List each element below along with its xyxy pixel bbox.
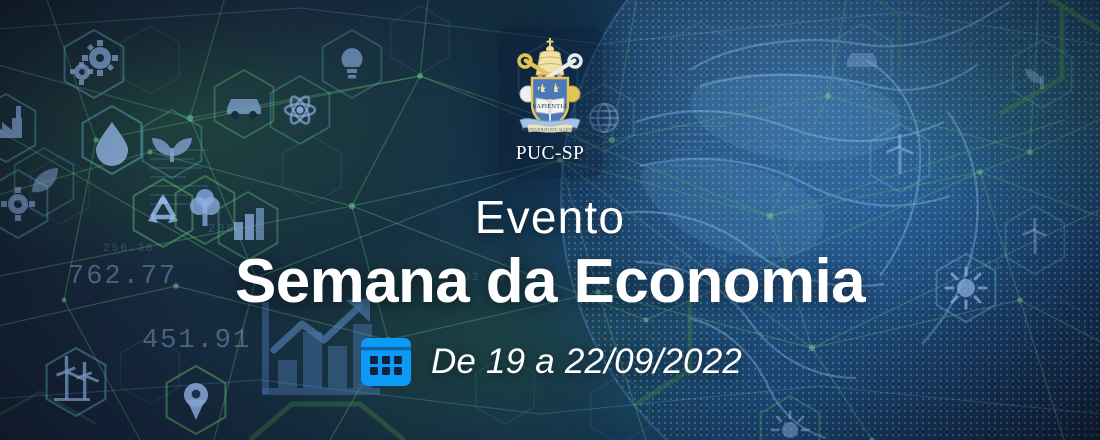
- event-date-row: De 19 a 22/09/2022: [358, 334, 742, 390]
- banner-content: SAPIENTIA IN UNIVERSITATE SCIENTIA PUC-S…: [0, 0, 1100, 440]
- page-title: Semana da Economia: [235, 251, 865, 313]
- event-date-text: De 19 a 22/09/2022: [431, 342, 742, 382]
- calendar-icon: [358, 334, 414, 390]
- crest-ribbon-text: IN UNIVERSITATE SCIENTIA: [521, 127, 578, 132]
- event-banner: 762.77 451.91 256.38 292.76 462.93 356.4…: [0, 0, 1100, 440]
- crest-motto: SAPIENTIA: [533, 103, 568, 110]
- event-eyebrow: Evento: [475, 194, 625, 240]
- puc-sp-coat-of-arms-icon: SAPIENTIA IN UNIVERSITATE SCIENTIA: [507, 32, 593, 142]
- institution-logo-card: SAPIENTIA IN UNIVERSITATE SCIENTIA PUC-S…: [498, 26, 602, 178]
- institution-abbr: PUC-SP: [516, 143, 585, 165]
